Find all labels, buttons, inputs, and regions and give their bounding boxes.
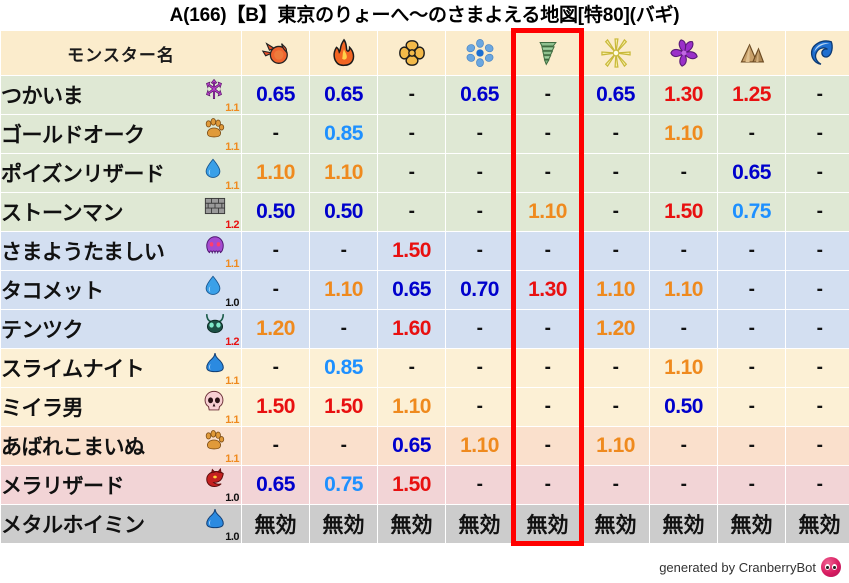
footer: generated by CranberryBot bbox=[659, 557, 841, 577]
resistance-cell: - bbox=[582, 193, 649, 231]
monster-type-badge: 1.2 bbox=[199, 310, 239, 348]
monster-name-cell[interactable]: ポイズンリザード1.1 bbox=[1, 154, 241, 192]
resistance-cell: 無効 bbox=[582, 505, 649, 543]
resistance-cell: 1.10 bbox=[242, 154, 309, 192]
monster-name-label: スライムナイト bbox=[1, 353, 144, 383]
monster-multiplier-badge: 1.1 bbox=[225, 454, 239, 465]
table-row: メラリザード1.00.650.751.50------ bbox=[1, 466, 849, 504]
resistance-cell: 1.10 bbox=[378, 388, 445, 426]
table-row: ゴールドオーク1.1-0.85----1.10-- bbox=[1, 115, 849, 153]
monster-multiplier-badge: 1.0 bbox=[225, 493, 239, 504]
monster-name-cell[interactable]: つかいま1.1 bbox=[1, 76, 241, 114]
monster-type-badge: 1.1 bbox=[199, 115, 239, 153]
resistance-cell: 無効 bbox=[242, 505, 309, 543]
monster-multiplier-badge: 1.1 bbox=[225, 376, 239, 387]
resistance-cell: - bbox=[378, 154, 445, 192]
page-title: A(166)【B】東京のりょーへ～のさまよえる地図[特80](バギ) bbox=[0, 0, 849, 30]
resistance-cell: 1.50 bbox=[650, 193, 717, 231]
resistance-cell: 1.50 bbox=[310, 388, 377, 426]
ice-crystal-icon bbox=[397, 44, 427, 61]
resistance-cell: - bbox=[582, 154, 649, 192]
snowflake-icon bbox=[466, 44, 494, 61]
resistance-cell: - bbox=[446, 349, 513, 387]
monster-name-label: メタルホイミン bbox=[1, 509, 145, 539]
header-attribute-bagi_snow[interactable] bbox=[446, 31, 513, 75]
resistance-cell: - bbox=[446, 388, 513, 426]
monster-name-cell[interactable]: さまようたましい1.1 bbox=[1, 232, 241, 270]
resistance-cell: - bbox=[786, 388, 849, 426]
resistance-cell: - bbox=[718, 388, 785, 426]
resistance-cell: - bbox=[514, 76, 581, 114]
resistance-cell: - bbox=[582, 388, 649, 426]
monster-type-badge: 1.0 bbox=[199, 505, 239, 543]
resistance-cell: - bbox=[786, 232, 849, 270]
monster-name-label: メラリザード bbox=[1, 470, 124, 500]
resistance-cell: - bbox=[310, 232, 377, 270]
header-attribute-bagi[interactable] bbox=[514, 31, 581, 75]
resistance-cell: 1.10 bbox=[514, 193, 581, 231]
footer-text: generated by CranberryBot bbox=[659, 560, 816, 575]
resistance-cell: 0.65 bbox=[718, 154, 785, 192]
resistance-cell: 1.30 bbox=[650, 76, 717, 114]
resistance-cell: 0.65 bbox=[242, 466, 309, 504]
monster-name-label: つかいま bbox=[1, 80, 83, 110]
resistance-cell: 0.65 bbox=[446, 76, 513, 114]
resistance-cell: 無効 bbox=[378, 505, 445, 543]
resistance-cell: 1.50 bbox=[242, 388, 309, 426]
resistance-cell: - bbox=[446, 310, 513, 348]
dark-pinwheel-icon bbox=[669, 44, 699, 61]
resistance-cell: 無効 bbox=[786, 505, 849, 543]
resistance-cell: 0.65 bbox=[378, 271, 445, 309]
header-attribute-dorma[interactable] bbox=[650, 31, 717, 75]
resistance-cell: - bbox=[446, 232, 513, 270]
resistance-cell: - bbox=[650, 310, 717, 348]
resistance-cell: - bbox=[446, 466, 513, 504]
monster-name-cell[interactable]: タコメット1.0 bbox=[1, 271, 241, 309]
resistance-cell: 1.10 bbox=[310, 271, 377, 309]
monster-name-cell[interactable]: メタルホイミン1.0 bbox=[1, 505, 241, 543]
resistance-cell: - bbox=[514, 154, 581, 192]
resistance-cell: - bbox=[378, 76, 445, 114]
resistance-cell: - bbox=[650, 232, 717, 270]
resistance-cell: - bbox=[242, 271, 309, 309]
resistance-cell: - bbox=[786, 271, 849, 309]
resistance-cell: - bbox=[718, 310, 785, 348]
monster-type-badge: 1.1 bbox=[199, 232, 239, 270]
monster-multiplier-badge: 1.0 bbox=[225, 298, 239, 309]
resistance-cell: - bbox=[718, 466, 785, 504]
resistance-cell: 0.85 bbox=[310, 115, 377, 153]
header-attribute-merami[interactable] bbox=[242, 31, 309, 75]
resistance-cell: 無効 bbox=[446, 505, 513, 543]
cranberry-bot-icon bbox=[821, 557, 841, 577]
table-row: スライムナイト1.1-0.85----1.10-- bbox=[1, 349, 849, 387]
resistance-cell: - bbox=[718, 271, 785, 309]
resistance-cell: - bbox=[718, 427, 785, 465]
header-attribute-hyado[interactable] bbox=[378, 31, 445, 75]
table-row: ポイズンリザード1.11.101.10-----0.65- bbox=[1, 154, 849, 192]
resistance-cell: 0.65 bbox=[582, 76, 649, 114]
resistance-cell: - bbox=[514, 349, 581, 387]
monster-multiplier-badge: 1.1 bbox=[225, 103, 239, 114]
resistance-cell: - bbox=[310, 310, 377, 348]
resistance-cell: 0.75 bbox=[718, 193, 785, 231]
resistance-cell: - bbox=[650, 154, 717, 192]
resistance-cell: - bbox=[514, 466, 581, 504]
resistance-cell: - bbox=[582, 232, 649, 270]
resistance-cell: 1.60 bbox=[378, 310, 445, 348]
table-row: あばれこまいぬ1.1--0.651.10-1.10--- bbox=[1, 427, 849, 465]
resistance-cell: - bbox=[378, 349, 445, 387]
resistance-cell: 0.70 bbox=[446, 271, 513, 309]
resistance-cell: 0.65 bbox=[310, 76, 377, 114]
monster-name-label: ゴールドオーク bbox=[1, 119, 145, 149]
resistance-cell: - bbox=[582, 466, 649, 504]
mountain-icon bbox=[737, 44, 767, 61]
resistance-cell: 1.20 bbox=[242, 310, 309, 348]
resistance-cell: - bbox=[446, 115, 513, 153]
header-attribute-hyad_wave[interactable] bbox=[786, 31, 849, 75]
monster-name-label: ストーンマン bbox=[1, 197, 123, 227]
resistance-cell: - bbox=[718, 115, 785, 153]
monster-type-badge: 1.1 bbox=[199, 349, 239, 387]
header-attribute-jibariya[interactable] bbox=[718, 31, 785, 75]
resistance-cell: - bbox=[446, 193, 513, 231]
monster-name-cell[interactable]: ゴールドオーク1.1 bbox=[1, 115, 241, 153]
resistance-cell: - bbox=[786, 76, 849, 114]
resistance-cell: - bbox=[650, 466, 717, 504]
monster-name-cell[interactable]: メラリザード1.0 bbox=[1, 466, 241, 504]
header-attribute-gira[interactable] bbox=[310, 31, 377, 75]
table-row: テンツク1.21.20-1.60--1.20--- bbox=[1, 310, 849, 348]
monster-name-label: タコメット bbox=[1, 275, 104, 305]
table-row: つかいま1.10.650.65-0.65-0.651.301.25- bbox=[1, 76, 849, 114]
resistance-table-wrap: モンスター名つかいま1.10.650.65-0.65-0.651.301.25-… bbox=[0, 30, 849, 544]
resistance-cell: - bbox=[786, 466, 849, 504]
monster-name-label: テンツク bbox=[1, 314, 83, 344]
water-wave-icon bbox=[805, 44, 835, 61]
monster-multiplier-badge: 1.1 bbox=[225, 259, 239, 270]
resistance-cell: - bbox=[786, 349, 849, 387]
resistance-cell: - bbox=[786, 427, 849, 465]
monster-name-cell[interactable]: ミイラ男1.1 bbox=[1, 388, 241, 426]
resistance-cell: - bbox=[514, 232, 581, 270]
resistance-cell: 0.50 bbox=[242, 193, 309, 231]
meteor-fire-icon bbox=[261, 44, 291, 61]
resistance-cell: 無効 bbox=[514, 505, 581, 543]
monster-name-label: ポイズンリザード bbox=[1, 158, 164, 188]
resistance-cell: - bbox=[514, 115, 581, 153]
resistance-cell: 1.10 bbox=[582, 427, 649, 465]
tornado-icon bbox=[534, 44, 562, 61]
monster-name-cell[interactable]: テンツク1.2 bbox=[1, 310, 241, 348]
monster-type-badge: 1.2 bbox=[199, 193, 239, 231]
monster-name-label: ミイラ男 bbox=[1, 392, 83, 422]
monster-name-cell[interactable]: スライムナイト1.1 bbox=[1, 349, 241, 387]
star-burst-icon bbox=[601, 44, 631, 61]
table-row: メタルホイミン1.0無効無効無効無効無効無効無効無効無効 bbox=[1, 505, 849, 543]
header-attribute-dein[interactable] bbox=[582, 31, 649, 75]
table-header-row: モンスター名 bbox=[1, 31, 849, 75]
monster-multiplier-badge: 1.1 bbox=[225, 415, 239, 426]
monster-type-badge: 1.1 bbox=[199, 427, 239, 465]
table-row: ミイラ男1.11.501.501.10---0.50-- bbox=[1, 388, 849, 426]
resistance-cell: 1.10 bbox=[650, 271, 717, 309]
resistance-cell: - bbox=[718, 349, 785, 387]
monster-name-label: さまようたましい bbox=[1, 236, 164, 266]
resistance-cell: - bbox=[514, 388, 581, 426]
resistance-cell: 0.65 bbox=[242, 76, 309, 114]
monster-type-badge: 1.1 bbox=[199, 76, 239, 114]
resistance-cell: 1.50 bbox=[378, 466, 445, 504]
resistance-cell: 0.50 bbox=[650, 388, 717, 426]
resistance-table: モンスター名つかいま1.10.650.65-0.65-0.651.301.25-… bbox=[0, 30, 849, 544]
resistance-cell: 無効 bbox=[310, 505, 377, 543]
monster-type-badge: 1.0 bbox=[199, 271, 239, 309]
resistance-cell: - bbox=[310, 427, 377, 465]
monster-multiplier-badge: 1.1 bbox=[225, 142, 239, 153]
monster-multiplier-badge: 1.2 bbox=[225, 220, 239, 231]
resistance-cell: - bbox=[378, 193, 445, 231]
resistance-cell: - bbox=[242, 115, 309, 153]
monster-name-label: あばれこまいぬ bbox=[1, 431, 145, 461]
resistance-cell: - bbox=[446, 154, 513, 192]
resistance-cell: 0.50 bbox=[310, 193, 377, 231]
resistance-cell: - bbox=[514, 427, 581, 465]
resistance-cell: - bbox=[650, 427, 717, 465]
monster-multiplier-badge: 1.0 bbox=[225, 532, 239, 543]
resistance-cell: - bbox=[242, 232, 309, 270]
monster-multiplier-badge: 1.2 bbox=[225, 337, 239, 348]
table-row: さまようたましい1.1--1.50------ bbox=[1, 232, 849, 270]
resistance-cell: - bbox=[786, 115, 849, 153]
resistance-cell: 1.50 bbox=[378, 232, 445, 270]
resistance-cell: 1.10 bbox=[446, 427, 513, 465]
resistance-cell: - bbox=[242, 349, 309, 387]
resistance-cell: 0.75 bbox=[310, 466, 377, 504]
resistance-cell: 1.10 bbox=[650, 349, 717, 387]
monster-multiplier-badge: 1.1 bbox=[225, 181, 239, 192]
resistance-cell: 1.10 bbox=[582, 271, 649, 309]
resistance-cell: - bbox=[242, 427, 309, 465]
resistance-cell: - bbox=[786, 154, 849, 192]
resistance-cell: 無効 bbox=[650, 505, 717, 543]
resistance-cell: - bbox=[582, 115, 649, 153]
resistance-cell: 0.85 bbox=[310, 349, 377, 387]
resistance-cell: - bbox=[786, 310, 849, 348]
resistance-cell: - bbox=[514, 310, 581, 348]
resistance-cell: 1.25 bbox=[718, 76, 785, 114]
resistance-cell: 1.20 bbox=[582, 310, 649, 348]
monster-name-cell[interactable]: ストーンマン1.2 bbox=[1, 193, 241, 231]
monster-type-badge: 1.1 bbox=[199, 388, 239, 426]
monster-type-badge: 1.0 bbox=[199, 466, 239, 504]
resistance-cell: 0.65 bbox=[378, 427, 445, 465]
resistance-cell: - bbox=[718, 232, 785, 270]
resistance-cell: - bbox=[582, 349, 649, 387]
resistance-cell: 1.10 bbox=[310, 154, 377, 192]
flame-icon bbox=[329, 44, 359, 61]
table-body: モンスター名つかいま1.10.650.65-0.65-0.651.301.25-… bbox=[1, 31, 849, 543]
header-monster-name: モンスター名 bbox=[1, 31, 241, 75]
resistance-cell: - bbox=[786, 193, 849, 231]
monster-type-badge: 1.1 bbox=[199, 154, 239, 192]
table-row: ストーンマン1.20.500.50--1.10-1.500.75- bbox=[1, 193, 849, 231]
resistance-cell: 無効 bbox=[718, 505, 785, 543]
resistance-cell: 1.30 bbox=[514, 271, 581, 309]
resistance-cell: 1.10 bbox=[650, 115, 717, 153]
resistance-cell: - bbox=[378, 115, 445, 153]
table-row: タコメット1.0-1.100.650.701.301.101.10-- bbox=[1, 271, 849, 309]
monster-name-cell[interactable]: あばれこまいぬ1.1 bbox=[1, 427, 241, 465]
